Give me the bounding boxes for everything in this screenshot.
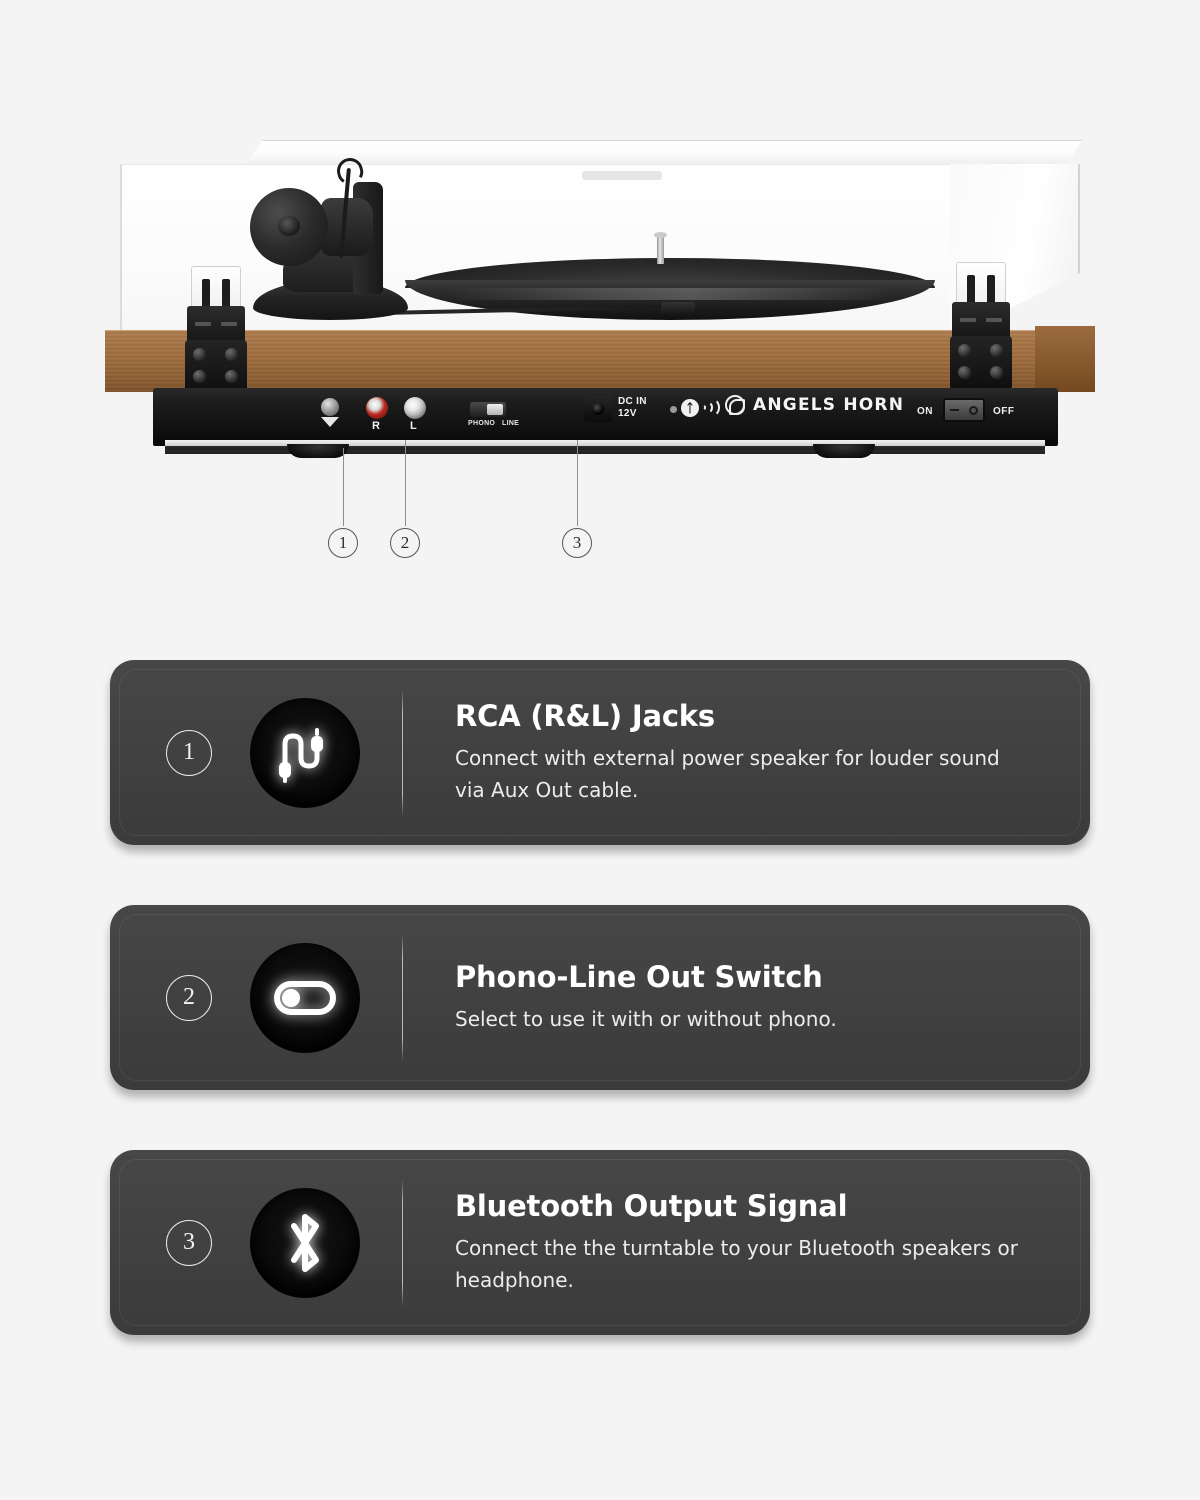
- callout-number-1: 1: [328, 528, 358, 558]
- rca-right-label: R: [372, 420, 380, 432]
- feature-text-block: Phono-Line Out Switch Select to use it w…: [455, 960, 1056, 1035]
- power-off-label: OFF: [993, 406, 1015, 417]
- wood-grain-texture: [105, 330, 1095, 392]
- feature-description: Connect the the turntable to your Blueto…: [455, 1232, 1025, 1296]
- phono-label: PHONO: [468, 420, 495, 427]
- dust-cover-top: [245, 140, 1083, 166]
- hinge-screw: [193, 348, 206, 361]
- feature-title: Phono-Line Out Switch: [455, 960, 1036, 994]
- power-off-symbol-icon: [969, 406, 978, 415]
- feature-card-phono-line-switch[interactable]: 2 Phono-Line Out Switch Select to use it…: [110, 905, 1090, 1090]
- bluetooth-icon: ᛏ: [681, 399, 699, 417]
- bluetooth-glyph: [282, 1207, 328, 1279]
- feature-card-list: 1 RCA (R&L) Jacks Connect with external …: [0, 660, 1200, 1395]
- feature-number-badge: 3: [166, 1220, 212, 1266]
- feature-text-block: Bluetooth Output Signal Connect the the …: [455, 1189, 1056, 1296]
- platter-highlight: [445, 288, 895, 300]
- dc-in-label: DC IN 12V: [618, 396, 647, 420]
- feature-description: Select to use it with or without phono.: [455, 1003, 1025, 1035]
- wood-plinth: [105, 330, 1095, 392]
- toggle-switch-icon: [250, 943, 360, 1053]
- power-on-label: ON: [917, 406, 933, 417]
- brand-mark: ANGELS HORN: [725, 395, 904, 415]
- rca-cable-icon: [250, 698, 360, 808]
- power-rocker-switch[interactable]: [943, 398, 985, 422]
- feature-title: Bluetooth Output Signal: [455, 1189, 1036, 1223]
- ground-symbol-icon: [321, 417, 339, 427]
- dust-cover-vent: [582, 171, 662, 180]
- rca-left-label: L: [410, 420, 417, 432]
- callout-leader-line-3: [577, 440, 578, 526]
- hinge-mount-plate: [185, 340, 247, 394]
- feature-text-block: RCA (R&L) Jacks Connect with external po…: [455, 699, 1056, 806]
- headshell: [661, 302, 695, 314]
- turntable-foot-left: [287, 444, 349, 458]
- feature-card-rca-jacks[interactable]: 1 RCA (R&L) Jacks Connect with external …: [110, 660, 1090, 845]
- toggle-switch-glyph: [274, 981, 336, 1015]
- brand-name: ANGELS HORN: [753, 395, 904, 415]
- callout-number-2: 2: [390, 528, 420, 558]
- hinge-screw: [958, 344, 971, 357]
- rca-jack-left: [404, 397, 426, 419]
- phono-line-switch-knob[interactable]: [487, 404, 503, 415]
- dust-cover-hinge-left: [185, 266, 247, 396]
- callout-leader-line-2: [405, 440, 406, 526]
- turntable-product-image: R L PHONO LINE DC IN 12V ᛏ ANGELS HORN O…: [105, 140, 1095, 460]
- feature-card-bluetooth-output[interactable]: 3 Bluetooth Output Signal Connect the th…: [110, 1150, 1090, 1335]
- dc-power-jack: [584, 396, 612, 422]
- hinge-screw: [193, 370, 206, 383]
- card-divider: [402, 934, 403, 1062]
- bluetooth-icon: [250, 1188, 360, 1298]
- feature-title: RCA (R&L) Jacks: [455, 699, 1036, 733]
- bluetooth-led-indicator: [670, 406, 677, 413]
- feature-description: Connect with external power speaker for …: [455, 742, 1025, 806]
- rca-jack-right: [366, 397, 388, 419]
- power-on-symbol-icon: [950, 409, 959, 411]
- counterweight-center: [278, 216, 300, 236]
- dust-cover-highlight: [150, 170, 940, 173]
- hinge-screw: [990, 366, 1003, 379]
- callout-number-3: 3: [562, 528, 592, 558]
- hinge-screw: [958, 366, 971, 379]
- spindle: [657, 234, 664, 264]
- callout-leader-line-1: [343, 448, 344, 526]
- dust-cover-hinge-right: [950, 262, 1012, 392]
- platter-edge: [405, 280, 935, 320]
- hinge-screw: [990, 344, 1003, 357]
- ground-terminal: [321, 398, 339, 416]
- rca-cable-glyph: [272, 722, 338, 784]
- celtic-knot-logo-icon: [725, 395, 745, 415]
- hinge-screw: [225, 348, 238, 361]
- feature-number-badge: 1: [166, 730, 212, 776]
- product-photo-stage: R L PHONO LINE DC IN 12V ᛏ ANGELS HORN O…: [0, 0, 1200, 620]
- line-label: LINE: [502, 420, 519, 427]
- spindle-cap: [654, 232, 667, 238]
- hinge-screw: [225, 370, 238, 383]
- turntable-foot-right: [813, 444, 875, 458]
- card-divider: [402, 689, 403, 817]
- wood-plinth-right-edge: [1035, 326, 1095, 392]
- hinge-mount-plate: [950, 336, 1012, 390]
- card-divider: [402, 1179, 403, 1307]
- bluetooth-signal-waves-icon: [699, 398, 715, 418]
- feature-number-badge: 2: [166, 975, 212, 1021]
